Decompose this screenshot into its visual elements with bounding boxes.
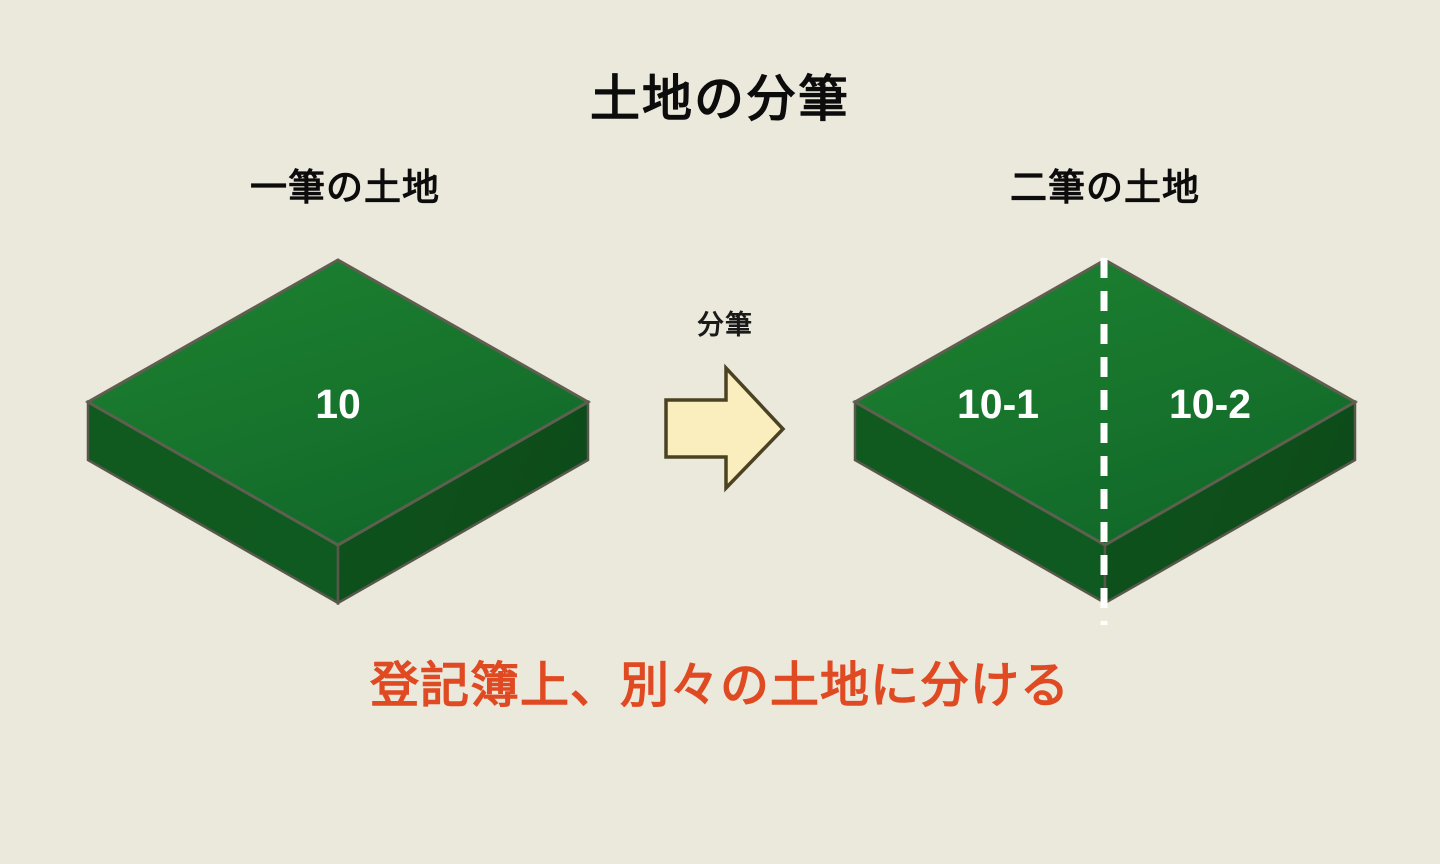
right-parcel-slab	[855, 258, 1355, 625]
split-action-label: 分筆	[640, 303, 810, 342]
diagram-graphics	[0, 0, 1440, 864]
parcel-number-10-1: 10-1	[898, 384, 1098, 425]
split-arrow-icon	[666, 368, 783, 488]
parcel-number-10-2: 10-2	[1110, 384, 1310, 425]
footer-note: 登記簿上、別々の土地に分ける	[0, 660, 1440, 714]
right-panel-label: 二筆の土地	[905, 168, 1305, 209]
left-panel-label: 一筆の土地	[145, 168, 545, 209]
slide-canvas: 土地の分筆 一筆の土地 二筆の土地	[0, 0, 1440, 864]
parcel-number-10: 10	[238, 384, 438, 425]
page-title: 土地の分筆	[0, 72, 1440, 127]
left-parcel-slab	[88, 260, 588, 603]
